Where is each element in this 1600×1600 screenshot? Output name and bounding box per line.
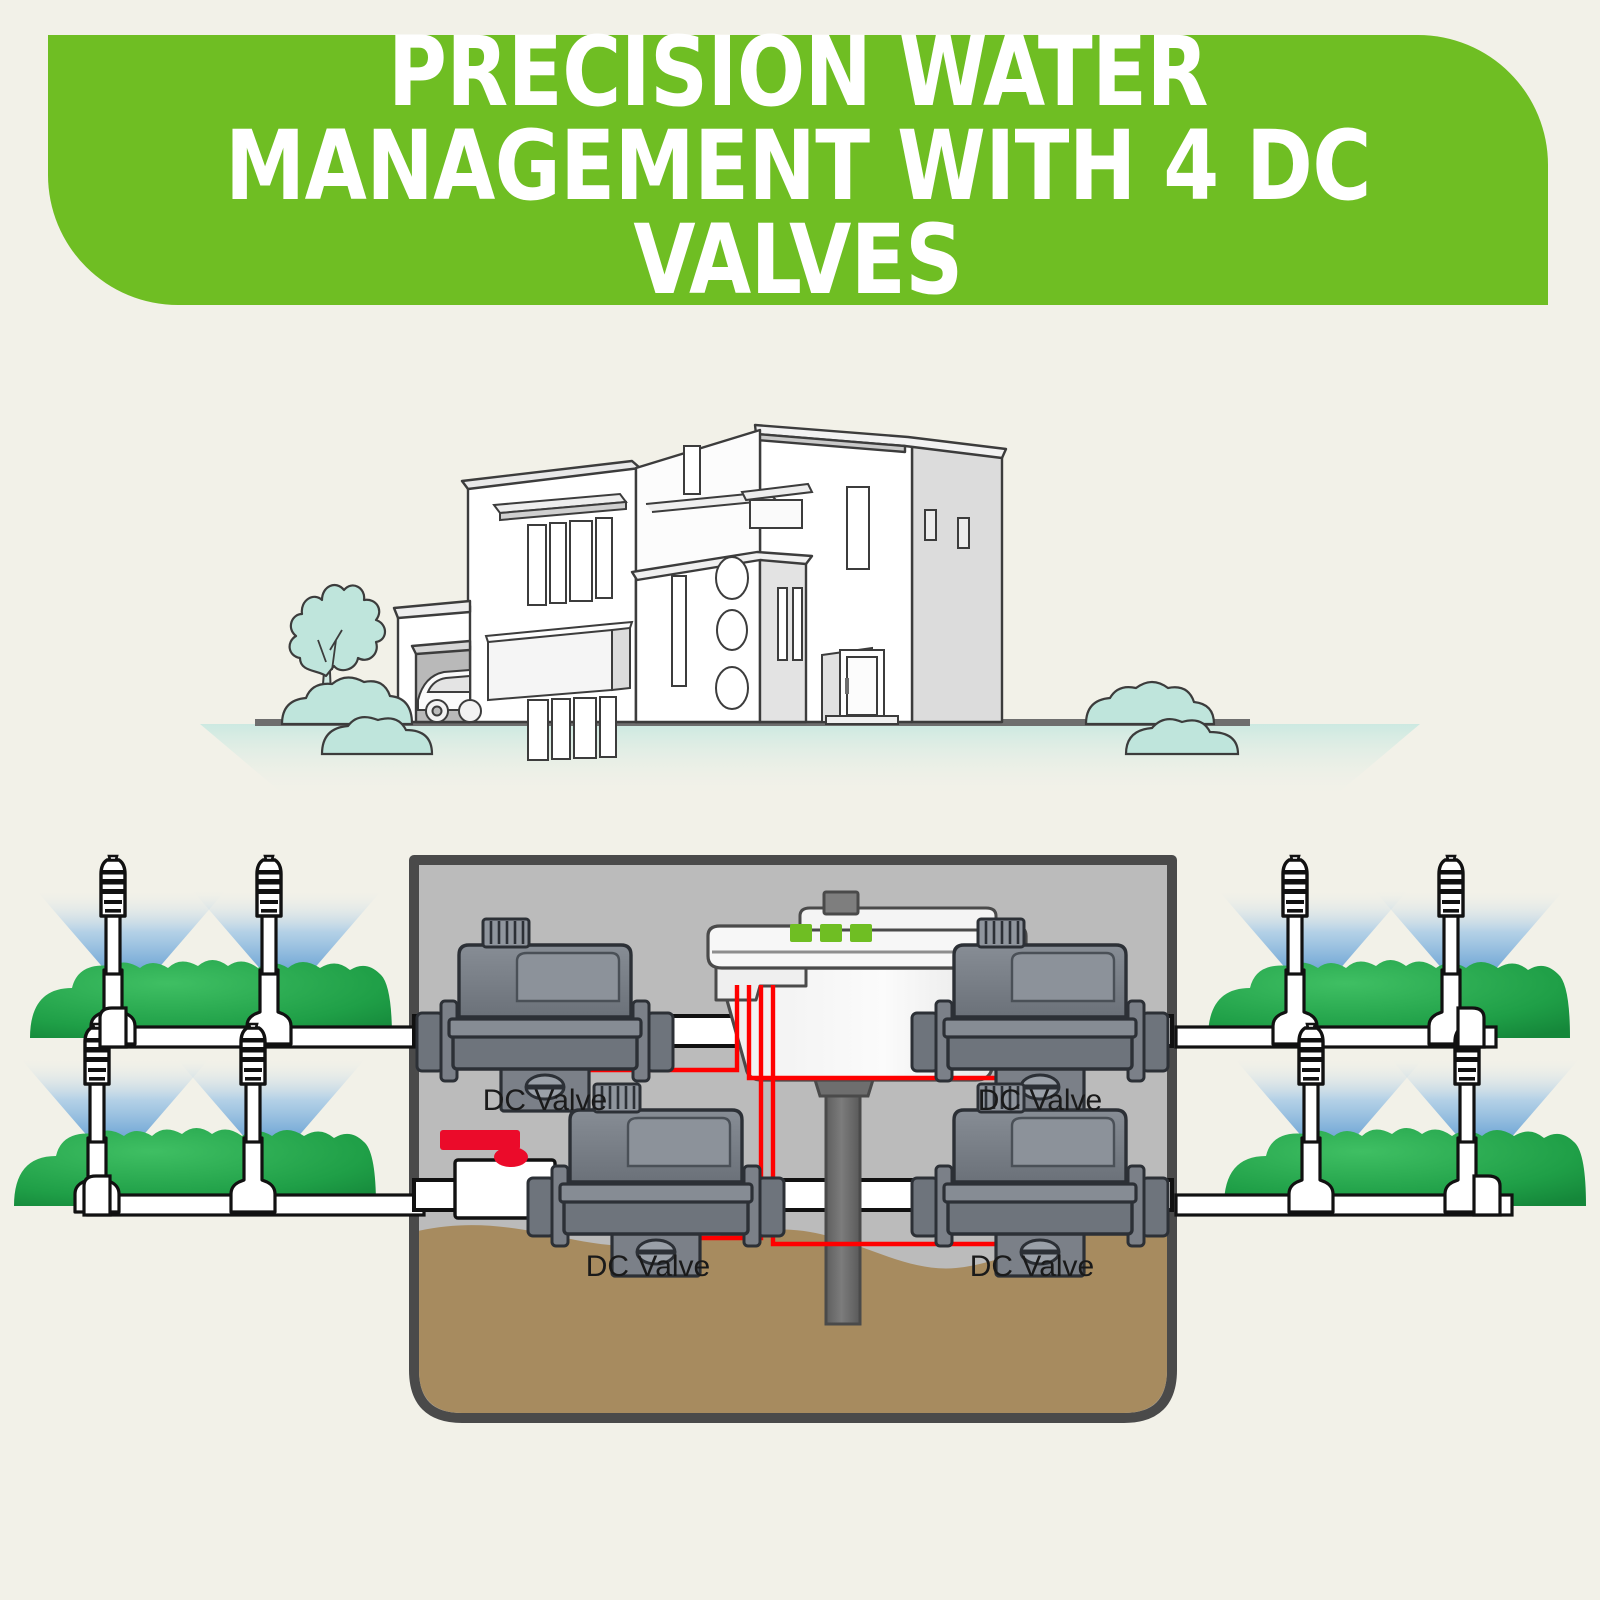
ball-valve-handle-stem <box>507 1130 517 1156</box>
dc-valve-label-bottom-right: DC Valve <box>970 1250 1094 1283</box>
controller-antenna <box>824 892 858 914</box>
dc-valve-label-top-left: DC Valve <box>483 1084 607 1117</box>
sprinkler-zone-upper-right <box>1176 856 1570 1047</box>
sprinkler-zone-lower-right <box>1176 1024 1586 1380</box>
sprinkler-zone-lower-left <box>14 1024 424 1215</box>
status-led-1 <box>790 924 812 942</box>
dc-valve-label-bottom-left: DC Valve <box>586 1250 710 1283</box>
sprinkler-zone-upper-left <box>30 856 424 1047</box>
controller-stem <box>826 1088 860 1324</box>
house-illustration <box>200 425 1420 800</box>
irrigation-diagram: DC Valve DC Valve DC Valve DC Valve <box>14 856 1586 1422</box>
infographic-stage: PRECISION WATER MANAGEMENT WITH 4 DC VAL… <box>0 0 1600 1600</box>
scene-svg: DC Valve DC Valve DC Valve DC Valve <box>0 0 1600 1600</box>
status-led-2 <box>820 924 842 942</box>
dc-valve-label-top-right: DC Valve <box>978 1084 1102 1117</box>
status-led-3 <box>850 924 872 942</box>
